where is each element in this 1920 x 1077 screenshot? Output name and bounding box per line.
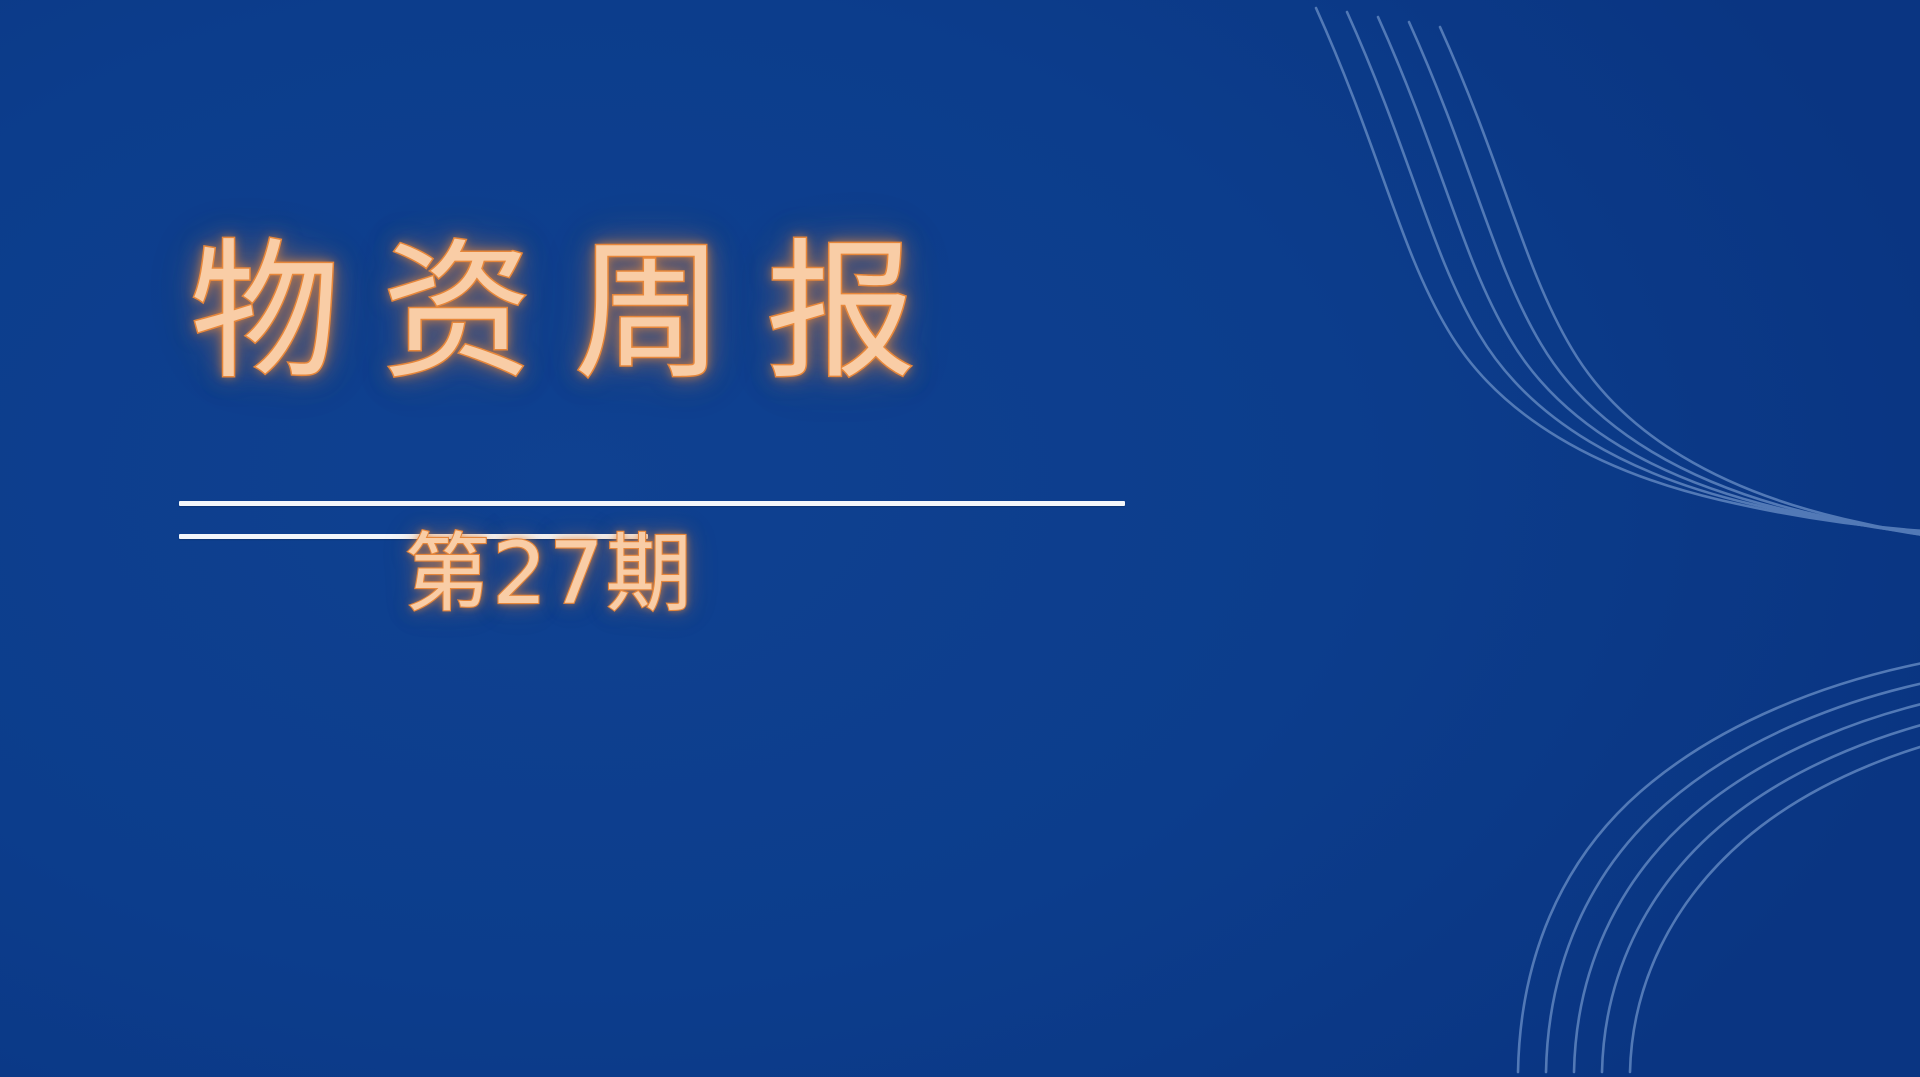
title-underline-long (179, 501, 1125, 506)
title-block: 物资周报 (176, 232, 1176, 394)
issue-subtitle: 第27期 (178, 527, 920, 622)
page-title: 物资周报 (176, 232, 1176, 394)
title-slide: 物资周报 第27期 (0, 0, 1920, 1077)
